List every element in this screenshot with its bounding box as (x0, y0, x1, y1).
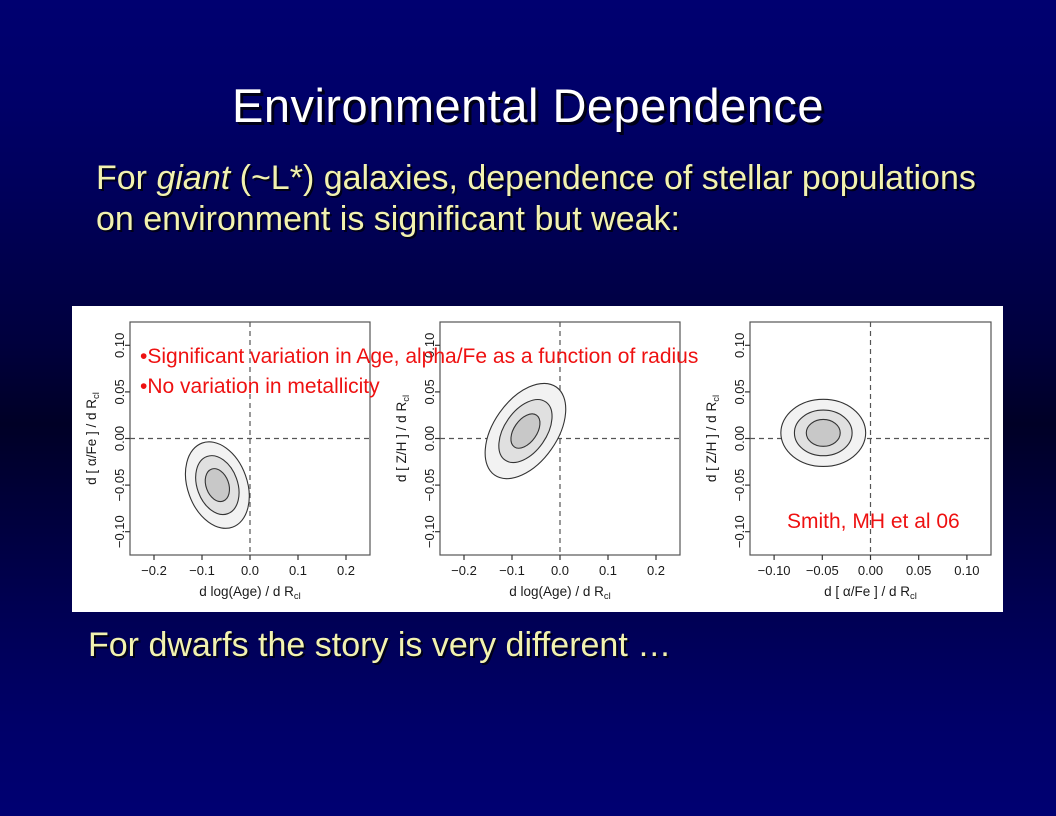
citation-label: Smith, MH et al 06 (787, 510, 960, 534)
annotation-bullets: •Significant variation in Age, alpha/Fe … (140, 342, 698, 402)
svg-text:−0.1: −0.1 (499, 563, 525, 578)
bottom-caption: For dwarfs the story is very different … (88, 626, 1008, 665)
svg-text:0.10: 0.10 (112, 333, 127, 358)
svg-text:−0.10: −0.10 (758, 563, 791, 578)
svg-text:0.05: 0.05 (112, 379, 127, 404)
svg-text:−0.1: −0.1 (189, 563, 215, 578)
body-paragraph: For giant (~L*) galaxies, dependence of … (96, 158, 996, 240)
svg-text:0.00: 0.00 (112, 426, 127, 451)
svg-text:−0.10: −0.10 (112, 515, 127, 548)
svg-text:0.0: 0.0 (241, 563, 259, 578)
svg-text:0.00: 0.00 (858, 563, 883, 578)
svg-text:−0.2: −0.2 (451, 563, 477, 578)
svg-text:0.2: 0.2 (647, 563, 665, 578)
svg-text:−0.05: −0.05 (422, 469, 437, 502)
svg-text:0.00: 0.00 (732, 426, 747, 451)
slide-canvas: Environmental Dependence For giant (~L*)… (0, 0, 1056, 816)
svg-text:0.0: 0.0 (551, 563, 569, 578)
svg-text:−0.2: −0.2 (141, 563, 167, 578)
svg-text:0.2: 0.2 (337, 563, 355, 578)
svg-text:0.1: 0.1 (289, 563, 307, 578)
svg-text:−0.10: −0.10 (732, 515, 747, 548)
svg-text:0.1: 0.1 (599, 563, 617, 578)
svg-text:0.05: 0.05 (732, 379, 747, 404)
svg-text:0.10: 0.10 (954, 563, 979, 578)
body-text-italic: giant (156, 159, 230, 197)
body-text-before: For (96, 159, 156, 197)
svg-text:−0.05: −0.05 (806, 563, 839, 578)
annotation-line-2: •No variation in metallicity (140, 372, 698, 402)
svg-text:−0.10: −0.10 (422, 515, 437, 548)
annotation-line-1: •Significant variation in Age, alpha/Fe … (140, 342, 698, 372)
svg-text:0.10: 0.10 (732, 333, 747, 358)
chart-panel-3: −0.10−0.050.000.050.10−0.10−0.050.000.05… (692, 306, 1003, 612)
page-title: Environmental Dependence (0, 78, 1056, 133)
svg-text:−0.05: −0.05 (732, 469, 747, 502)
svg-text:−0.05: −0.05 (112, 469, 127, 502)
svg-text:0.05: 0.05 (906, 563, 931, 578)
svg-text:0.00: 0.00 (422, 426, 437, 451)
